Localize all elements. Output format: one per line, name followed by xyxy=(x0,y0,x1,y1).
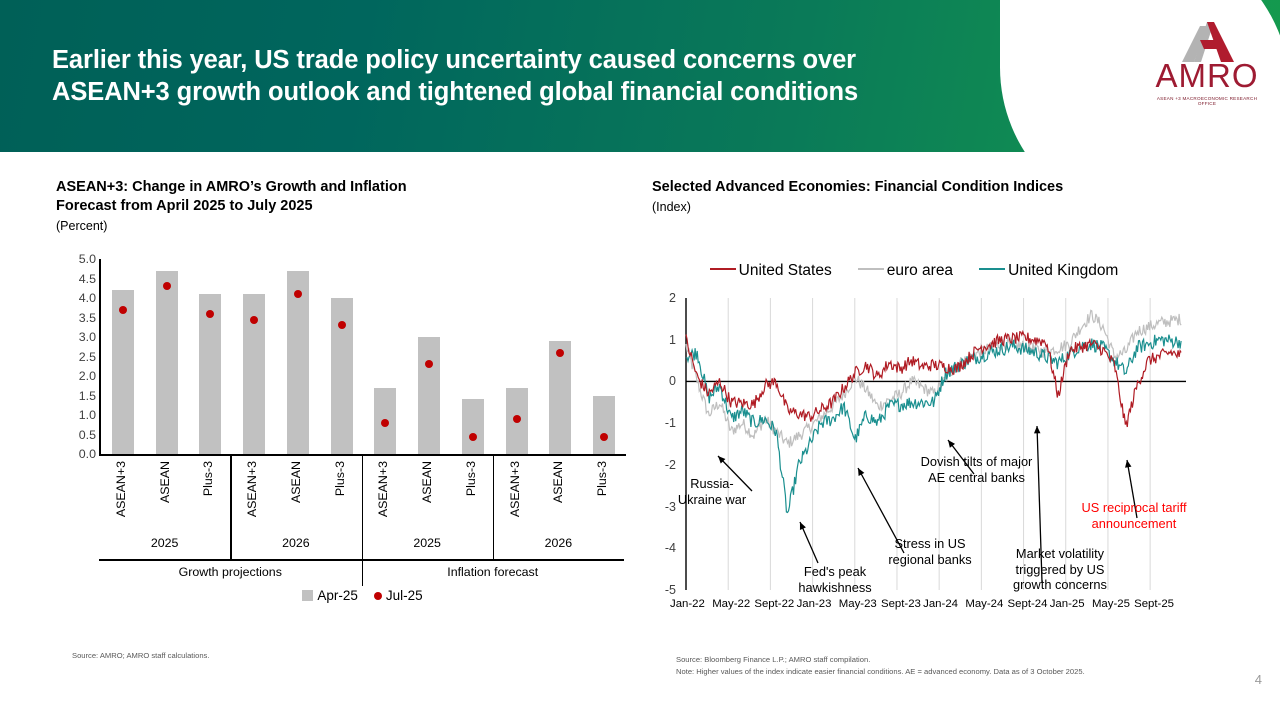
line-x-tick: Jan-22 xyxy=(670,598,705,610)
line-x-tick: Jan-25 xyxy=(1050,598,1085,610)
line-x-tick: Sept-24 xyxy=(1008,598,1048,610)
line-series-euro-area xyxy=(686,310,1181,447)
left-chart-title: ASEAN+3: Change in AMRO’s Growth and Inf… xyxy=(56,178,636,216)
amro-logo-tagline: ASEAN +3 MACROECONOMIC RESEARCH OFFICE xyxy=(1148,96,1266,106)
line-y-tick: -4 xyxy=(652,541,676,555)
line-x-tick: Sept-25 xyxy=(1134,598,1174,610)
bar-category-label: ASEAN+3 xyxy=(376,461,390,517)
annotation-us-reciprocal-tariff: US reciprocal tariffannouncement xyxy=(1064,500,1204,531)
left-chart-panel: ASEAN+3: Change in AMRO’s Growth and Inf… xyxy=(56,178,636,598)
annotation-russia-ukraine-war-line: Russia- xyxy=(662,476,762,492)
dot-jul-25 xyxy=(206,310,214,318)
dot-jul-25 xyxy=(556,349,564,357)
bar-y-tick: 3.5 xyxy=(79,311,101,325)
dot-jul-25 xyxy=(163,282,171,290)
line-chart: 210-1-2-3-4-5Jan-22May-22Sept-22Jan-23Ma… xyxy=(652,288,1204,618)
line-x-tick: May-25 xyxy=(1092,598,1130,610)
line-y-tick: -5 xyxy=(652,583,676,597)
left-chart-title-line2: Forecast from April 2025 to July 2025 xyxy=(56,197,636,216)
bar-category-label: ASEAN xyxy=(420,461,434,503)
right-chart-source-line1: Source: Bloomberg Finance L.P.; AMRO sta… xyxy=(676,654,1085,666)
line-y-tick: -1 xyxy=(652,416,676,430)
annotation-market-volatility-line: Market volatility xyxy=(1000,546,1120,562)
annotation-us-reciprocal-tariff-line: US reciprocal tariff xyxy=(1064,500,1204,516)
annotation-arrow-market-volatility-head xyxy=(1034,426,1041,433)
legend-label-united-states: United States xyxy=(739,262,832,279)
bar-group-label: 2025 xyxy=(362,536,493,550)
annotation-stress-us-regional-banks: Stress in USregional banks xyxy=(870,536,990,567)
bar-plot-area: 0.00.51.01.52.02.53.03.54.04.55.0 xyxy=(99,259,626,456)
right-chart-panel: Selected Advanced Economies: Financial C… xyxy=(652,178,1212,214)
bar-category-label: ASEAN xyxy=(551,461,565,503)
legend-label-euro-area: euro area xyxy=(887,262,953,279)
bar-y-tick: 1.0 xyxy=(79,408,101,422)
line-y-tick: 1 xyxy=(652,333,676,347)
left-chart-unit: (Percent) xyxy=(56,219,636,233)
annotation-arrow-dovish-tilts-head xyxy=(948,440,955,448)
bar-chart: 0.00.51.01.52.02.53.03.54.04.55.0 ASEAN+… xyxy=(56,253,631,598)
legend-line-united-states xyxy=(710,268,736,270)
amro-logo-mark-icon xyxy=(1174,22,1240,62)
annotation-dovish-tilts-line: Dovish tilts of major xyxy=(894,454,1059,470)
dot-jul-25 xyxy=(250,316,258,324)
bar-category-label: ASEAN xyxy=(289,461,303,503)
bar-category-label: ASEAN xyxy=(158,461,172,503)
bar-category-label: ASEAN+3 xyxy=(245,461,259,517)
bar-category-label: Plus-3 xyxy=(595,461,609,496)
dot-jul-25 xyxy=(469,433,477,441)
annotation-stress-us-regional-banks-line: regional banks xyxy=(870,552,990,568)
line-y-tick: -2 xyxy=(652,458,676,472)
bar-category-label: Plus-3 xyxy=(333,461,347,496)
bar-category-label: Plus-3 xyxy=(201,461,215,496)
line-plot-area xyxy=(652,288,1204,618)
line-x-tick: Jan-24 xyxy=(923,598,958,610)
right-chart-source-note: Note: Higher values of the index indicat… xyxy=(676,666,1085,678)
line-x-tick: May-23 xyxy=(839,598,877,610)
dot-jul-25 xyxy=(381,419,389,427)
right-chart-source: Source: Bloomberg Finance L.P.; AMRO sta… xyxy=(676,654,1085,677)
bar-apr-25 xyxy=(112,290,134,454)
annotation-market-volatility: Market volatilitytriggered by USgrowth c… xyxy=(1000,546,1120,593)
amro-logo: AMRO ASEAN +3 MACROECONOMIC RESEARCH OFF… xyxy=(1148,22,1266,114)
bar-y-tick: 3.0 xyxy=(79,330,101,344)
bar-y-tick: 1.5 xyxy=(79,389,101,403)
line-x-tick: Jan-23 xyxy=(797,598,832,610)
annotation-market-volatility-line: growth concerns xyxy=(1000,577,1120,593)
bar-category-label: ASEAN+3 xyxy=(114,461,128,517)
slide-title: Earlier this year, US trade policy uncer… xyxy=(52,44,952,108)
bar-apr-25 xyxy=(549,341,571,454)
line-x-tick: May-24 xyxy=(965,598,1003,610)
legend-line-united-kingdom xyxy=(979,268,1005,270)
bar-group-label: 2026 xyxy=(230,536,361,550)
right-chart-title: Selected Advanced Economies: Financial C… xyxy=(652,178,1212,197)
dot-jul-25 xyxy=(513,415,521,423)
bar-group-label: 2026 xyxy=(493,536,624,550)
bar-category-label: Plus-3 xyxy=(464,461,478,496)
bar-y-tick: 0.5 xyxy=(79,428,101,442)
annotation-russia-ukraine-war-line: Ukraine war xyxy=(662,492,762,508)
dot-jul-25 xyxy=(425,360,433,368)
bar-section-rule xyxy=(99,559,362,561)
annotation-arrow-reciprocal-tariff-head xyxy=(1125,460,1131,468)
annotation-fed-peak-hawkishness-line: hawkishness xyxy=(780,580,890,596)
line-y-tick: 0 xyxy=(652,374,676,388)
annotation-dovish-tilts: Dovish tilts of majorAE central banks xyxy=(894,454,1059,485)
bar-category-label: ASEAN+3 xyxy=(508,461,522,517)
bar-y-tick: 2.5 xyxy=(79,350,101,364)
right-chart-unit: (Index) xyxy=(652,200,1212,214)
left-chart-title-line1: ASEAN+3: Change in AMRO’s Growth and Inf… xyxy=(56,178,636,197)
line-y-tick: 2 xyxy=(652,291,676,305)
annotation-fed-peak-hawkishness: Fed's peakhawkishness xyxy=(780,564,890,595)
slide-title-line2: ASEAN+3 growth outlook and tightened glo… xyxy=(52,76,952,108)
line-x-tick: May-22 xyxy=(712,598,750,610)
bar-y-tick: 5.0 xyxy=(79,252,101,266)
bar-apr-25 xyxy=(199,294,221,454)
slide-title-line1: Earlier this year, US trade policy uncer… xyxy=(52,44,952,76)
legend-line-euro-area xyxy=(858,268,884,270)
dot-jul-25 xyxy=(600,433,608,441)
amro-logo-wordmark: AMRO xyxy=(1148,58,1266,94)
bar-section-divider xyxy=(362,456,364,586)
bar-section-rule xyxy=(362,559,625,561)
bar-apr-25 xyxy=(156,271,178,454)
bar-y-tick: 2.0 xyxy=(79,369,101,383)
slide-header: Earlier this year, US trade policy uncer… xyxy=(0,0,1280,152)
annotation-us-reciprocal-tariff-line: announcement xyxy=(1064,516,1204,532)
dot-jul-25 xyxy=(338,321,346,329)
bar-y-tick: 4.0 xyxy=(79,291,101,305)
bar-chart-legend: Apr-25Jul-25 xyxy=(99,588,626,603)
bar-group-divider xyxy=(493,456,495,560)
bar-section-label: Inflation forecast xyxy=(362,565,625,579)
bar-group-divider xyxy=(230,456,232,560)
bar-section-label: Growth projections xyxy=(99,565,362,579)
annotation-russia-ukraine-war: Russia-Ukraine war xyxy=(662,476,762,507)
bar-apr-25 xyxy=(418,337,440,454)
legend-label-apr-25: Apr-25 xyxy=(317,588,358,603)
line-x-tick: Sept-22 xyxy=(754,598,794,610)
line-x-tick: Sept-23 xyxy=(881,598,921,610)
bar-group-label: 2025 xyxy=(99,536,230,550)
bar-y-tick: 4.5 xyxy=(79,272,101,286)
bar-apr-25 xyxy=(462,399,484,454)
annotation-stress-us-regional-banks-line: Stress in US xyxy=(870,536,990,552)
bar-y-tick: 0.0 xyxy=(79,447,101,461)
legend-label-jul-25: Jul-25 xyxy=(386,588,423,603)
left-chart-source: Source: AMRO; AMRO staff calculations. xyxy=(72,650,209,662)
dot-jul-25 xyxy=(119,306,127,314)
bar-apr-25 xyxy=(593,396,615,455)
legend-label-united-kingdom: United Kingdom xyxy=(1008,262,1118,279)
annotation-market-volatility-line: triggered by US xyxy=(1000,562,1120,578)
dot-jul-25 xyxy=(294,290,302,298)
legend-dot-jul-25 xyxy=(374,592,382,600)
line-series-united-states xyxy=(686,332,1181,427)
legend-swatch-apr-25 xyxy=(302,590,313,601)
page-number: 4 xyxy=(1255,672,1262,687)
line-chart-legend: United Stateseuro areaUnited Kingdom xyxy=(652,262,1202,280)
annotation-dovish-tilts-line: AE central banks xyxy=(894,470,1059,486)
